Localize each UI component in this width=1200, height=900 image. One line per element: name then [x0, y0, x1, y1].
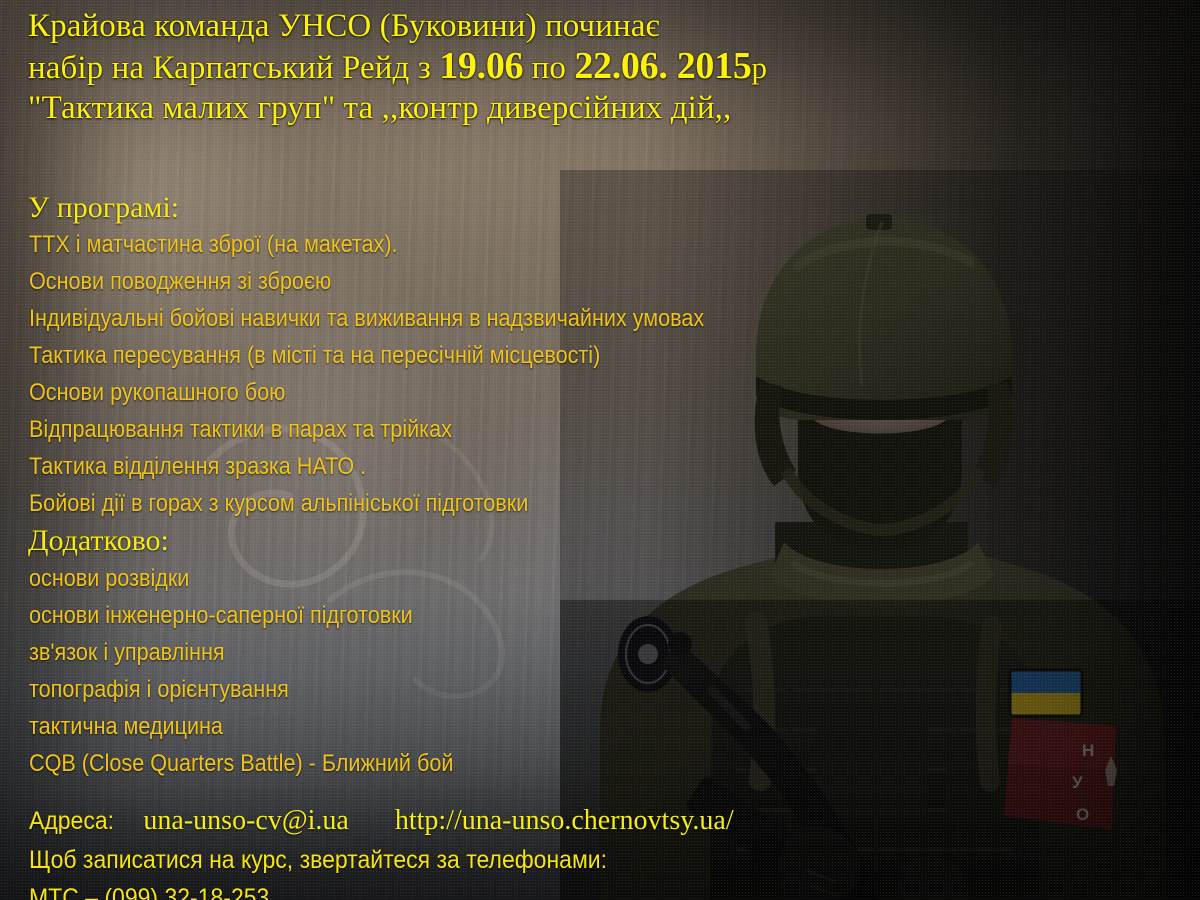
program-item-6: Тактика відділення зразка НАТО .: [29, 453, 366, 481]
title-line-2-prefix: набір на Карпатський Рейд з: [28, 50, 439, 86]
extra-heading: Додатково:: [28, 524, 169, 558]
extra-item-2: зв'язок і управління: [29, 639, 225, 667]
title-line-2: набір на Карпатський Рейд з 19.06 по 22.…: [28, 46, 1198, 88]
extra-item-0: основи розвідки: [29, 565, 189, 593]
title-line-3: "Тактика малих груп" та ,,контр диверсій…: [28, 88, 1198, 128]
program-item-2: Індивідуальні бойові навички та виживанн…: [29, 305, 704, 333]
signup-instruction: Щоб записатися на курс, звертайтеся за т…: [29, 846, 607, 875]
website-url[interactable]: http://una-unso.chernovtsy.ua/: [395, 805, 734, 837]
extra-item-1: основи інженерно-саперної підготовки: [29, 602, 413, 630]
program-item-1: Основи поводження зі зброєю: [29, 268, 331, 296]
program-heading: У програмі:: [28, 191, 179, 225]
soldier-figure: Н У О: [560, 170, 1200, 900]
address-label: Адреса:: [29, 807, 114, 836]
program-item-5: Відпрацювання тактики в парах та трійках: [29, 416, 452, 444]
address-row: Адреса: una-unso-cv@i.ua http://una-unso…: [29, 805, 734, 837]
poster-title-block: Крайова команда УНСО (Буковини) починає …: [28, 6, 1198, 128]
program-item-4: Основи рукопашного бою: [29, 379, 285, 407]
email-address[interactable]: una-unso-cv@i.ua: [143, 805, 348, 837]
program-item-0: ТТХ і матчастина зброї (на макетах).: [29, 231, 398, 259]
extra-item-4: тактична медицина: [29, 713, 223, 741]
extra-item-5: CQB (Close Quarters Battle) - Ближний бо…: [29, 750, 453, 778]
extra-item-3: топографія і орієнтування: [29, 676, 289, 704]
program-item-3: Тактика пересування (в місті та на перес…: [29, 342, 600, 370]
date-to: 22.06. 2015: [574, 45, 751, 87]
title-line-1: Крайова команда УНСО (Буковини) починає: [28, 6, 1198, 46]
title-line-2-mid: по: [523, 50, 574, 86]
date-from: 19.06: [439, 45, 523, 87]
poster-canvas: Н У О Кр: [0, 0, 1200, 900]
phone-number[interactable]: МТС – (099) 32-18-253: [29, 884, 269, 900]
program-item-7: Бойові дії в горах з курсом альпініської…: [29, 490, 528, 518]
year-suffix: р: [752, 50, 768, 85]
